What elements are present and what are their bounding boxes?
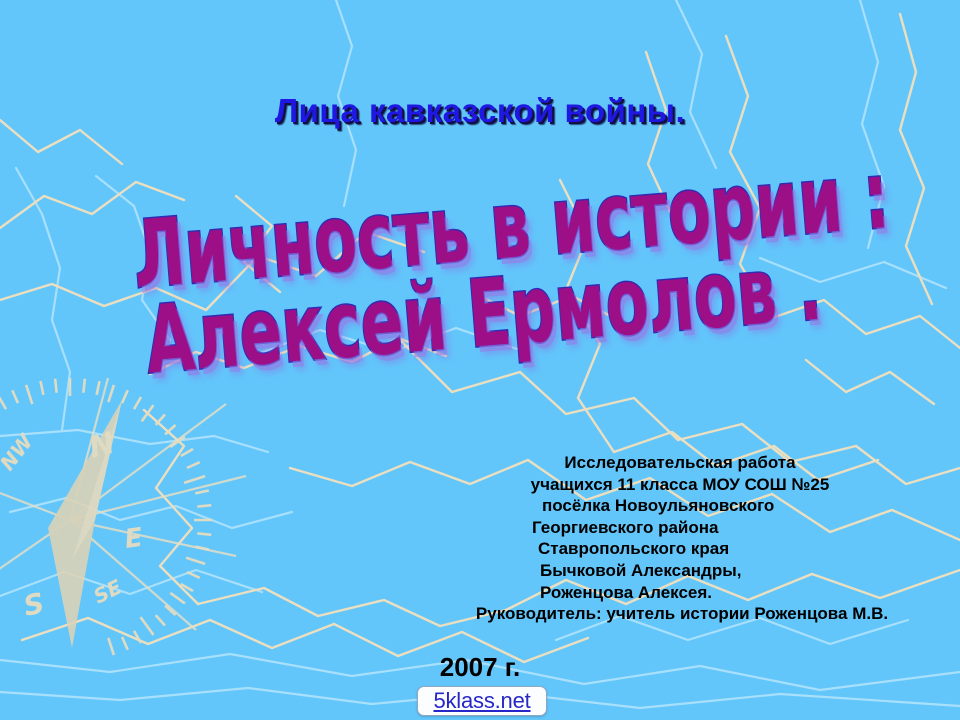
credit-line: посёлка Новоульяновского — [420, 495, 940, 517]
compass-label-nw: NW — [0, 429, 38, 475]
compass-needle-highlight — [72, 400, 122, 560]
watermark-badge[interactable]: 5klass.net — [417, 686, 547, 716]
presentation-slide: N NW S SE E Лица кавказской войны. Лично… — [0, 0, 960, 720]
credit-line: Исследовательская работа — [420, 452, 940, 474]
compass-rose: N NW S SE E — [0, 378, 246, 655]
compass-tick-ring — [0, 378, 212, 655]
credit-line: учащихся 11 класса МОУ СОШ №25 — [420, 474, 940, 496]
credit-line: Бычковой Александры, — [420, 560, 940, 582]
year-label: 2007 г. — [0, 652, 960, 683]
compass-labels: N NW S SE E — [0, 426, 145, 623]
wordart-heading: Личность в истории : Алексей Ермолов . — [55, 157, 905, 386]
credit-line: Роженцова Алексея. — [420, 582, 940, 604]
compass-needle — [48, 400, 122, 648]
compass-rays — [0, 378, 246, 630]
compass-label-se: SE — [90, 574, 126, 608]
watermark-link[interactable]: 5klass.net — [433, 690, 530, 712]
compass-label-e: E — [123, 523, 145, 555]
wordart-line-2: Алексей Ермолов . — [136, 240, 830, 388]
credit-line-supervisor: Руководитель: учитель истории Роженцова … — [420, 603, 940, 625]
wordart-line-1: Личность в истории : — [130, 154, 824, 302]
compass-label-s: S — [21, 586, 48, 622]
slide-title: Лица кавказской войны. — [0, 92, 960, 130]
compass-label-n: N — [85, 426, 118, 466]
credits-block: Исследовательская работа учащихся 11 кла… — [420, 452, 940, 625]
credit-line: Ставропольского края — [420, 538, 940, 560]
credit-line: Георгиевского района — [420, 517, 940, 539]
